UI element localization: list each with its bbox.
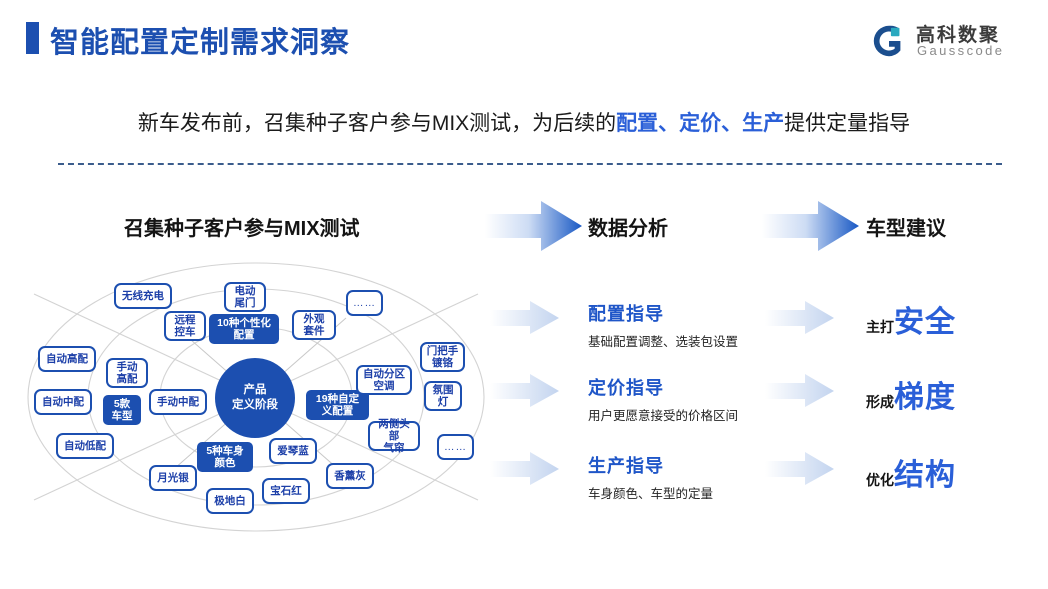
node-label-line1: 香薰灰 — [334, 470, 366, 482]
mindmap-hub-line2: 定义阶段 — [232, 398, 278, 413]
flow-arrow-icon-2 — [762, 200, 860, 252]
row-arrow-icon-left-2 — [490, 374, 560, 408]
branch-label-line1: 5款 — [112, 398, 133, 410]
mindmap-branch-body-colors[interactable]: 5种车身 颜色 — [197, 442, 253, 472]
node-label-line1: 自动中配 — [42, 396, 84, 408]
subtitle: 新车发布前，召集种子客户参与MIX测试，为后续的配置、定价、生产提供定量指导 — [0, 107, 1048, 137]
analysis-title-3: 生产指导 — [588, 452, 713, 478]
column-header-right: 车型建议 — [866, 212, 946, 241]
node-label-line1: 自动低配 — [64, 440, 106, 452]
mindmap-diagram: 产品 定义阶段 10种个性化 配置 19种自定 义配置 5款 车型 — [16, 258, 496, 536]
subtitle-part1: 新车发布前，召集种子客户参与MIX测试，为后续的 — [138, 112, 616, 135]
node-label-line2: 灯 — [433, 396, 454, 408]
node-label-line1: 爱琴蓝 — [277, 445, 309, 457]
row-arrow-icon-right-2 — [765, 374, 835, 408]
node-label-line2: 高配 — [117, 373, 138, 385]
mindmap-node-manual-mid[interactable]: 手动中配 — [149, 389, 207, 415]
suggestion-keyword-1: 安全 — [894, 306, 956, 339]
subtitle-highlight: 配置、定价、生产 — [616, 112, 784, 135]
slide-canvas: 智能配置定制需求洞察 高科数聚 Gausscode 新车发布前，召集种子客户参与… — [0, 0, 1048, 589]
suggestion-prefix-1: 主打 — [866, 319, 894, 335]
node-label-line1: 电动 — [235, 285, 256, 297]
flow-arrow-icon-1 — [485, 200, 583, 252]
mindmap-node-ellipsis-right[interactable]: …… — [437, 434, 474, 460]
mindmap-node-auto-low[interactable]: 自动低配 — [56, 433, 114, 459]
gausscode-g-mark-icon — [870, 22, 908, 60]
node-label-line2: 空调 — [363, 380, 405, 392]
suggestion-item-3: 优化结构 — [866, 450, 956, 494]
suggestion-keyword-2: 梯度 — [894, 381, 956, 414]
row-arrow-icon-left-3 — [490, 452, 560, 486]
suggestion-prefix-3: 优化 — [866, 472, 894, 488]
analysis-item-3: 生产指导 车身颜色、车型的定量 — [588, 452, 713, 502]
node-label-line2: 控车 — [175, 326, 196, 338]
column-header-left: 召集种子客户参与MIX测试 — [124, 212, 360, 241]
subtitle-part2: 提供定量指导 — [784, 112, 910, 135]
branch-label-line1: 19种自定 — [316, 393, 359, 405]
node-label-line2: 尾门 — [235, 297, 256, 309]
section-divider — [58, 163, 1002, 165]
branch-label-line2: 车型 — [112, 410, 133, 422]
mindmap-node-polar-white[interactable]: 极地白 — [206, 488, 254, 514]
title-accent-bar — [26, 22, 39, 54]
mindmap-node-door-handle-chrome[interactable]: 门把手 镀铬 — [420, 342, 465, 372]
analysis-title-1: 配置指导 — [588, 300, 738, 326]
analysis-item-2: 定价指导 用户更愿意接受的价格区间 — [588, 374, 738, 424]
row-arrow-icon-right-3 — [765, 452, 835, 486]
mindmap-node-ambient-light[interactable]: 氛围 灯 — [424, 381, 462, 411]
row-arrow-icon-left-1 — [490, 301, 560, 335]
mindmap-node-ruby-red[interactable]: 宝石红 — [262, 478, 310, 504]
node-label-line1: 无线充电 — [122, 290, 164, 302]
mindmap-node-side-head-airbag[interactable]: 两侧头部 气帘 — [368, 421, 420, 451]
suggestion-item-2: 形成梯度 — [866, 372, 956, 416]
mindmap-node-wireless-charge[interactable]: 无线充电 — [114, 283, 172, 309]
node-label-line1: 外观 — [304, 313, 325, 325]
row-arrow-icon-right-1 — [765, 301, 835, 335]
suggestion-keyword-3: 结构 — [894, 459, 956, 492]
mindmap-branch-model-count[interactable]: 5款 车型 — [103, 395, 141, 425]
mindmap-node-aegean-blue[interactable]: 爱琴蓝 — [269, 438, 317, 464]
node-label-line1: 手动中配 — [157, 396, 199, 408]
mindmap-node-power-tailgate[interactable]: 电动 尾门 — [224, 282, 266, 312]
branch-label-line2: 颜色 — [206, 457, 243, 469]
analysis-desc-3: 车身颜色、车型的定量 — [588, 483, 713, 502]
mindmap-node-appearance-kit[interactable]: 外观 套件 — [292, 310, 336, 340]
node-label-line1: 远程 — [175, 314, 196, 326]
analysis-title-2: 定价指导 — [588, 374, 738, 400]
suggestion-item-1: 主打安全 — [866, 297, 956, 341]
node-label-line1: 月光银 — [157, 472, 189, 484]
logo-text-en: Gausscode — [917, 43, 1004, 58]
mindmap-node-auto-mid[interactable]: 自动中配 — [34, 389, 92, 415]
brand-logo: 高科数聚 Gausscode — [870, 18, 1030, 66]
branch-label-line2: 义配置 — [316, 405, 359, 417]
node-label-line1: 氛围 — [433, 384, 454, 396]
branch-label-line1: 5种车身 — [206, 445, 243, 457]
mindmap-hub: 产品 定义阶段 — [215, 358, 295, 438]
node-label-line2: 镀铬 — [427, 357, 459, 369]
analysis-desc-1: 基础配置调整、选装包设置 — [588, 331, 738, 350]
node-label-line1: 两侧头部 — [374, 418, 414, 442]
node-label-line1: 自动分区 — [363, 368, 405, 380]
branch-label-line1: 10种个性化 — [217, 317, 271, 329]
analysis-desc-2: 用户更愿意接受的价格区间 — [588, 405, 738, 424]
node-label-line1: 手动 — [117, 361, 138, 373]
mindmap-node-moonlight-silver[interactable]: 月光银 — [149, 465, 197, 491]
analysis-item-1: 配置指导 基础配置调整、选装包设置 — [588, 300, 738, 350]
mindmap-branch-personalized-config[interactable]: 10种个性化 配置 — [209, 314, 279, 344]
node-label-line1: 宝石红 — [270, 485, 302, 497]
branch-label-line2: 配置 — [217, 329, 271, 341]
node-label-line2: 气帘 — [374, 442, 414, 454]
mindmap-node-auto-high[interactable]: 自动高配 — [38, 346, 96, 372]
node-label-line2: 套件 — [304, 325, 325, 337]
mindmap-hub-line1: 产品 — [232, 383, 278, 398]
node-label-line1: 自动高配 — [46, 353, 88, 365]
column-header-mid: 数据分析 — [588, 212, 668, 241]
mindmap-node-auto-zone-ac[interactable]: 自动分区 空调 — [356, 365, 412, 395]
node-label-line1: 极地白 — [214, 495, 246, 507]
mindmap-node-manual-high[interactable]: 手动 高配 — [106, 358, 148, 388]
node-label-line1: 门把手 — [427, 345, 459, 357]
mindmap-node-incense-grey[interactable]: 香薰灰 — [326, 463, 374, 489]
mindmap-node-ellipsis-top[interactable]: …… — [346, 290, 383, 316]
mindmap-node-remote-control[interactable]: 远程 控车 — [164, 311, 206, 341]
node-label-line1: …… — [353, 297, 376, 309]
node-label-line1: …… — [444, 441, 467, 453]
suggestion-prefix-2: 形成 — [866, 394, 894, 410]
page-title: 智能配置定制需求洞察 — [50, 19, 350, 61]
